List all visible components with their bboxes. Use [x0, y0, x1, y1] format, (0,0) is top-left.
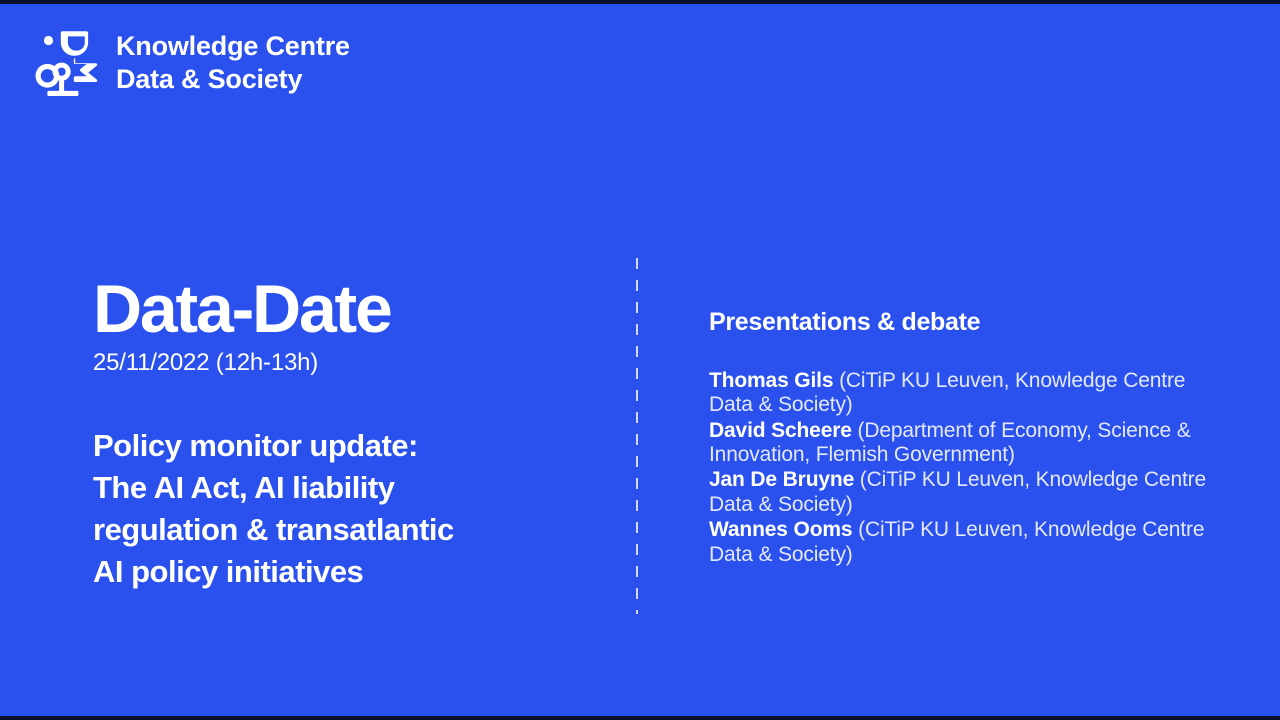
speaker-name: Wannes Ooms — [709, 518, 852, 541]
event-title: Data-Date — [93, 276, 593, 343]
speaker-list: Thomas Gils (CiTiP KU Leuven, Knowledge … — [709, 369, 1209, 567]
session-title-line: AI policy initiatives — [93, 551, 593, 593]
list-item: Thomas Gils (CiTiP KU Leuven, Knowledge … — [709, 369, 1209, 418]
speaker-name: Jan De Bruyne — [709, 468, 854, 491]
session-title-line: Policy monitor update: — [93, 425, 593, 467]
presentations-heading: Presentations & debate — [709, 308, 1209, 337]
list-item: Jan De Bruyne (CiTiP KU Leuven, Knowledg… — [709, 468, 1209, 517]
left-column: Data-Date 25/11/2022 (12h-13h) Policy mo… — [93, 276, 593, 593]
speaker-name: David Scheere — [709, 419, 852, 442]
session-title: Policy monitor update: The AI Act, AI li… — [93, 425, 593, 594]
session-title-line: regulation & transatlantic — [93, 509, 593, 551]
presentation-slide: Knowledge Centre Data & Society Data-Dat… — [0, 0, 1280, 720]
speaker-name: Thomas Gils — [709, 369, 833, 392]
event-datetime: 25/11/2022 (12h-13h) — [93, 349, 593, 377]
session-title-line: The AI Act, AI liability — [93, 467, 593, 509]
slide-body: Data-Date 25/11/2022 (12h-13h) Policy mo… — [0, 0, 1280, 720]
letterbox-top — [0, 0, 1280, 4]
right-column: Presentations & debate Thomas Gils (CiTi… — [709, 308, 1209, 568]
letterbox-bottom — [0, 716, 1280, 720]
column-divider — [636, 258, 638, 614]
list-item: David Scheere (Department of Economy, Sc… — [709, 419, 1209, 468]
list-item: Wannes Ooms (CiTiP KU Leuven, Knowledge … — [709, 518, 1209, 567]
